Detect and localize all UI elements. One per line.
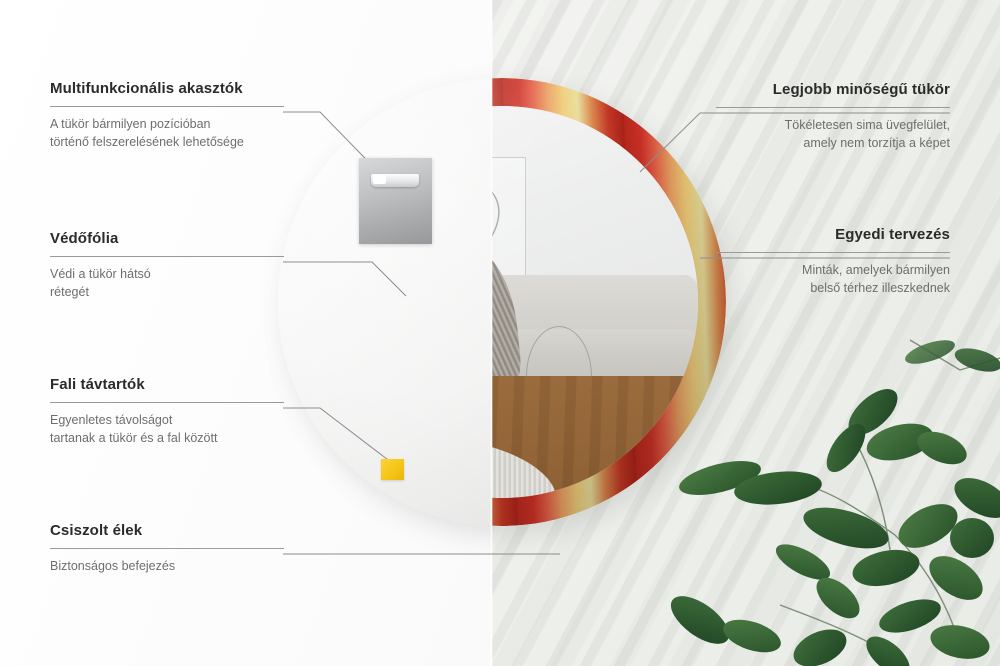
callout-protective-film: Védőfólia Védi a tükör hátsó rétegét	[50, 230, 284, 302]
callout-rule	[50, 256, 284, 257]
decorative-plant	[660, 330, 1000, 666]
callout-best-quality-mirror: Legjobb minőségű tükör Tökéletesen sima …	[716, 81, 950, 153]
infographic-stage: Multifunkcionális akasztók A tükör bármi…	[0, 0, 1000, 666]
callout-wall-spacers: Fali távtartók Egyenletes távolságot tar…	[50, 376, 284, 448]
callout-body: Biztonságos befejezés	[50, 558, 284, 576]
callout-body: Tökéletesen sima üvegfelület, amely nem …	[716, 117, 950, 153]
hanger-clip-icon	[371, 174, 419, 187]
callout-rule	[50, 548, 284, 549]
callout-title: Multifunkcionális akasztók	[50, 80, 284, 97]
callout-body: Minták, amelyek bármilyen belső térhez i…	[716, 262, 950, 298]
hanger-bracket-detail	[359, 158, 432, 244]
callout-polished-edges: Csiszolt élek Biztonságos befejezés	[50, 522, 284, 576]
callout-multifunctional-hooks: Multifunkcionális akasztók A tükör bármi…	[50, 80, 284, 152]
callout-body: Egyenletes távolságot tartanak a tükör é…	[50, 412, 284, 448]
callout-title: Legjobb minőségű tükör	[716, 81, 950, 98]
callout-body: A tükör bármilyen pozícióban történő fel…	[50, 116, 284, 152]
callout-rule	[716, 252, 950, 253]
mirror-product	[278, 78, 726, 526]
panel-divider	[490, 0, 493, 666]
callout-rule	[716, 107, 950, 108]
callout-title: Védőfólia	[50, 230, 284, 247]
callout-rule	[50, 106, 284, 107]
callout-rule	[50, 402, 284, 403]
callout-title: Csiszolt élek	[50, 522, 284, 539]
callout-unique-design: Egyedi tervezés Minták, amelyek bármilye…	[716, 226, 950, 298]
callout-title: Egyedi tervezés	[716, 226, 950, 243]
wall-spacer-detail	[381, 459, 404, 480]
callout-body: Védi a tükör hátsó rétegét	[50, 266, 284, 302]
callout-title: Fali távtartók	[50, 376, 284, 393]
